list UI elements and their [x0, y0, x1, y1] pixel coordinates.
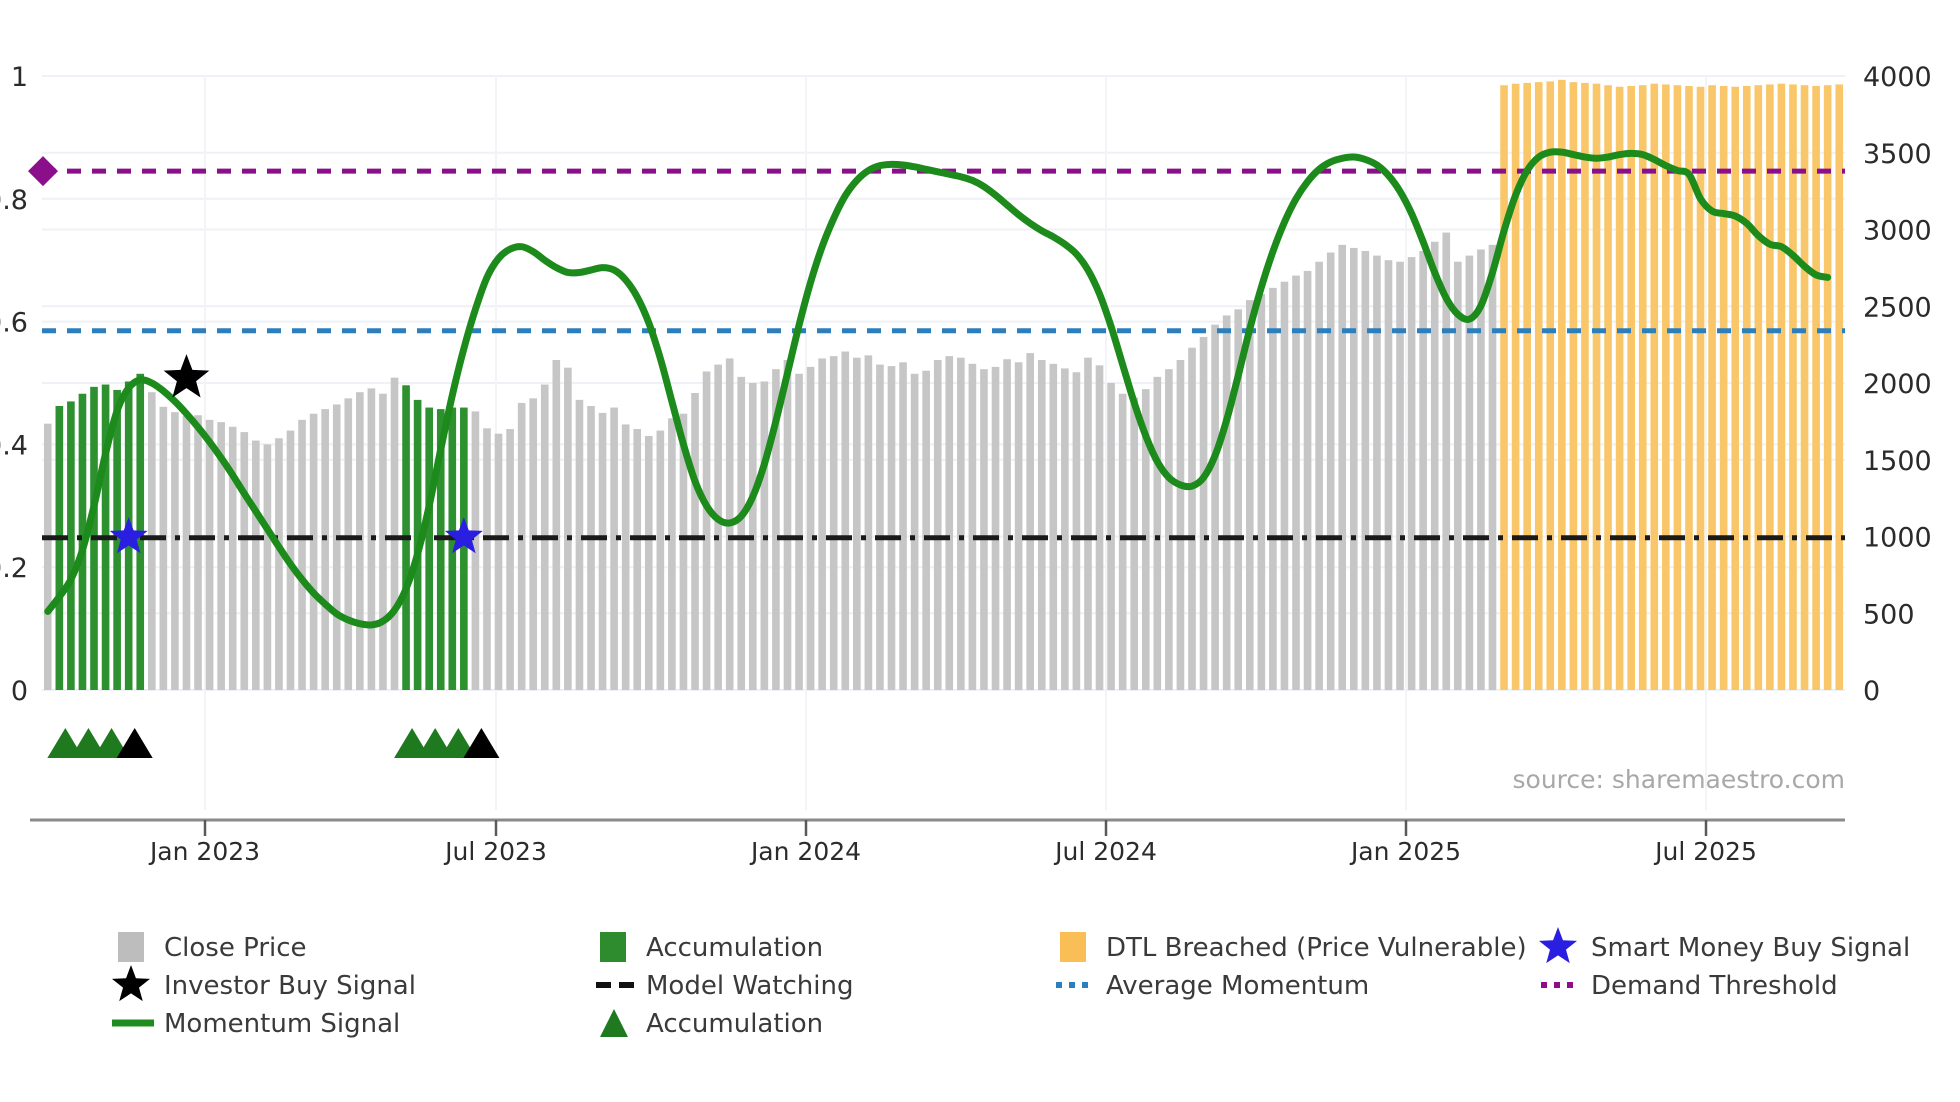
right-axis-tick-label: 3500 [1863, 139, 1932, 170]
dtl-breached-bar[interactable] [1812, 86, 1820, 690]
close-price-bar[interactable] [264, 444, 272, 690]
close-price-bar[interactable] [876, 365, 884, 690]
close-price-bar[interactable] [945, 356, 953, 690]
close-price-bar[interactable] [1269, 288, 1277, 690]
close-price-bar[interactable] [691, 393, 699, 690]
close-price-bar[interactable] [980, 369, 988, 690]
close-price-bar[interactable] [310, 414, 318, 690]
x-axis-tick-label: Jul 2024 [1053, 837, 1157, 866]
right-axis-tick-label: 1000 [1863, 523, 1932, 554]
dtl-breached-bar[interactable] [1616, 87, 1624, 690]
x-axis-tick-label: Jul 2023 [443, 837, 547, 866]
dtl-breached-bar[interactable] [1604, 85, 1612, 690]
left-axis-tick-label: 0.4 [0, 430, 28, 461]
close-price-bar[interactable] [795, 374, 803, 690]
close-price-bar[interactable] [1177, 360, 1185, 690]
close-price-bar[interactable] [599, 413, 607, 690]
close-price-bar[interactable] [1338, 245, 1346, 690]
right-axis-tick-label: 0 [1863, 676, 1880, 707]
close-price-bar[interactable] [252, 441, 260, 690]
accumulation-triangles[interactable] [47, 728, 499, 758]
close-price-bar[interactable] [657, 431, 665, 690]
close-price-bar[interactable] [957, 358, 965, 690]
close-price-bar[interactable] [1362, 251, 1370, 690]
investor-buy-signal-star[interactable] [164, 354, 210, 397]
dtl-breached-bar[interactable] [1835, 84, 1843, 690]
close-price-bar[interactable] [1223, 315, 1231, 690]
close-price-bar[interactable] [1258, 294, 1266, 690]
close-price-bar[interactable] [1408, 257, 1416, 690]
close-price-bar[interactable] [1304, 271, 1312, 690]
close-price-bar[interactable] [714, 365, 722, 690]
dtl-breached-bar[interactable] [1581, 83, 1589, 690]
close-price-bar[interactable] [1188, 348, 1196, 690]
dtl-breached-bar[interactable] [1627, 86, 1635, 690]
close-price-bar[interactable] [1373, 256, 1381, 690]
right-axis-tick-label: 2000 [1863, 369, 1932, 400]
x-axis-tick-label: Jan 2024 [749, 837, 861, 866]
dtl-breached-bar[interactable] [1535, 82, 1543, 690]
dtl-breached-bar[interactable] [1650, 84, 1658, 690]
accumulation-triangle-marker[interactable] [463, 728, 499, 758]
close-price-bar[interactable] [553, 360, 561, 690]
close-price-bar[interactable] [899, 362, 907, 690]
close-price-bar[interactable] [1165, 369, 1173, 690]
close-price-bar[interactable] [1246, 300, 1254, 690]
close-price-bar[interactable] [1385, 260, 1393, 690]
close-price-bar[interactable] [1084, 358, 1092, 690]
close-price-bar[interactable] [1026, 353, 1034, 690]
left-axis-tick-label: 0.6 [0, 308, 28, 339]
close-price-bar[interactable] [911, 374, 919, 690]
close-price-bar[interactable] [784, 360, 792, 690]
close-price-bar[interactable] [1096, 365, 1104, 690]
left-axis-labels: 10.80.60.40.20 [0, 62, 28, 707]
right-axis-tick-label: 2500 [1863, 292, 1932, 323]
close-price-bar[interactable] [171, 412, 179, 690]
close-price-bar[interactable] [529, 398, 537, 690]
close-price-bar[interactable] [841, 352, 849, 690]
close-price-bar[interactable] [275, 438, 283, 690]
close-price-bar[interactable] [506, 429, 514, 690]
left-axis-tick-label: 0 [11, 676, 28, 707]
close-price-bar[interactable] [483, 428, 491, 690]
close-price-bar[interactable] [1281, 282, 1289, 690]
close-price-bar[interactable] [379, 394, 387, 690]
close-price-bar[interactable] [1315, 262, 1323, 690]
close-price-bar[interactable] [1003, 359, 1011, 690]
close-price-bar[interactable] [703, 371, 711, 690]
close-price-bar[interactable] [1200, 337, 1208, 690]
close-price-bar[interactable] [992, 367, 1000, 690]
accumulation-bar[interactable] [460, 408, 468, 690]
close-price-bar[interactable] [240, 432, 248, 690]
close-price-bar[interactable] [818, 358, 826, 690]
close-price-bar[interactable] [1454, 262, 1462, 690]
dtl-breached-bar[interactable] [1731, 87, 1739, 690]
close-price-bar[interactable] [1015, 362, 1023, 690]
close-price-bar[interactable] [1119, 394, 1127, 690]
close-price-bar[interactable] [737, 377, 745, 690]
close-price-bar[interactable] [969, 364, 977, 690]
close-price-bar[interactable] [830, 356, 838, 690]
momentum-chart: 10.80.60.40.20 4000350030002500200015001… [0, 0, 1960, 1102]
close-price-bar[interactable] [194, 415, 202, 690]
close-price-bar[interactable] [1061, 368, 1069, 690]
close-price-bar[interactable] [160, 407, 168, 690]
close-price-bar[interactable] [1292, 276, 1300, 690]
close-price-bar[interactable] [206, 420, 214, 690]
close-price-bar[interactable] [1038, 360, 1046, 690]
x-axis-tick-label: Jan 2025 [1349, 837, 1461, 866]
dtl-breached-bar[interactable] [1639, 85, 1647, 690]
close-price-bar[interactable] [645, 436, 653, 690]
right-axis-tick-label: 3000 [1863, 216, 1932, 247]
x-axis-labels: Jan 2023Jul 2023Jan 2024Jul 2024Jan 2025… [148, 837, 1757, 866]
dtl-breached-bar[interactable] [1593, 84, 1601, 690]
close-price-bar[interactable] [183, 416, 191, 690]
dtl-breached-bar[interactable] [1824, 85, 1832, 690]
x-axis-tick-label: Jan 2023 [148, 837, 260, 866]
close-price-bar[interactable] [321, 409, 329, 690]
close-price-bar[interactable] [853, 358, 861, 690]
close-price-bar[interactable] [807, 367, 815, 690]
close-price-bar[interactable] [1073, 372, 1081, 690]
close-price-bar[interactable] [587, 406, 595, 690]
accumulation-triangle-marker[interactable] [117, 728, 153, 758]
dtl-breached-bar[interactable] [1708, 85, 1716, 690]
close-price-bar[interactable] [1489, 245, 1497, 690]
chart-page: 10.80.60.40.20 4000350030002500200015001… [0, 0, 1960, 1102]
accumulation-bar[interactable] [56, 406, 64, 690]
dtl-breached-bar[interactable] [1789, 84, 1797, 690]
x-axis-tick-label: Jul 2025 [1653, 837, 1757, 866]
close-price-bar[interactable] [668, 418, 676, 690]
right-axis-tick-label: 1500 [1863, 446, 1932, 477]
close-price-bar[interactable] [148, 392, 156, 690]
close-price-bar[interactable] [1350, 248, 1358, 690]
close-price-bar[interactable] [888, 366, 896, 690]
close-price-bar[interactable] [865, 355, 873, 690]
dtl-breached-bar[interactable] [1778, 84, 1786, 690]
dtl-breached-bar[interactable] [1801, 85, 1809, 690]
close-price-bar[interactable] [610, 408, 618, 690]
close-price-bar[interactable] [1431, 242, 1439, 690]
right-axis-tick-label: 500 [1863, 599, 1915, 630]
accumulation-bar[interactable] [67, 401, 75, 690]
close-price-bar[interactable] [356, 392, 364, 690]
close-price-bar[interactable] [576, 400, 584, 690]
close-price-bar[interactable] [1419, 251, 1427, 690]
dtl-breached-bar[interactable] [1512, 84, 1520, 690]
close-price-bar[interactable] [44, 424, 52, 690]
dtl-breached-bar[interactable] [1662, 84, 1670, 690]
close-price-bar[interactable] [518, 403, 526, 690]
demand-threshold-diamond-marker [28, 156, 58, 186]
left-axis-tick-label: 1 [11, 62, 28, 93]
close-price-bar[interactable] [495, 434, 503, 690]
close-price-bar[interactable] [922, 371, 930, 690]
dtl-breached-bar[interactable] [1558, 80, 1566, 690]
left-axis-tick-label: 0.8 [0, 185, 28, 216]
right-axis-tick-label: 4000 [1863, 62, 1932, 93]
source-attribution: source: sharemaestro.com [1513, 765, 1846, 794]
close-price-bar[interactable] [934, 360, 942, 690]
close-price-bar[interactable] [333, 404, 341, 690]
close-price-bar[interactable] [344, 398, 352, 690]
close-price-bar[interactable] [622, 424, 630, 690]
dtl-breached-bar[interactable] [1755, 85, 1763, 690]
close-price-bar[interactable] [1396, 262, 1404, 690]
dtl-breached-bar[interactable] [1743, 86, 1751, 690]
close-price-bar[interactable] [1130, 398, 1138, 690]
accumulation-bar[interactable] [425, 408, 433, 690]
close-price-bar[interactable] [1154, 377, 1162, 690]
close-price-bar[interactable] [564, 368, 572, 690]
dtl-breached-bar[interactable] [1674, 85, 1682, 690]
close-price-bar[interactable] [1327, 253, 1335, 690]
dtl-breached-bar[interactable] [1720, 86, 1728, 690]
dtl-breached-bar[interactable] [1697, 87, 1705, 690]
close-price-bar[interactable] [391, 378, 399, 690]
close-price-bar[interactable] [1211, 325, 1219, 690]
dtl-breached-bar[interactable] [1500, 85, 1508, 690]
left-axis-tick-label: 0.2 [0, 553, 28, 584]
axes [30, 820, 1845, 836]
close-price-bar[interactable] [633, 429, 641, 690]
dtl-breached-bar[interactable] [1766, 84, 1774, 690]
right-axis-labels: 40003500300025002000150010005000 [1863, 62, 1932, 707]
close-price-bar[interactable] [298, 420, 306, 690]
close-price-bar[interactable] [1049, 364, 1057, 690]
